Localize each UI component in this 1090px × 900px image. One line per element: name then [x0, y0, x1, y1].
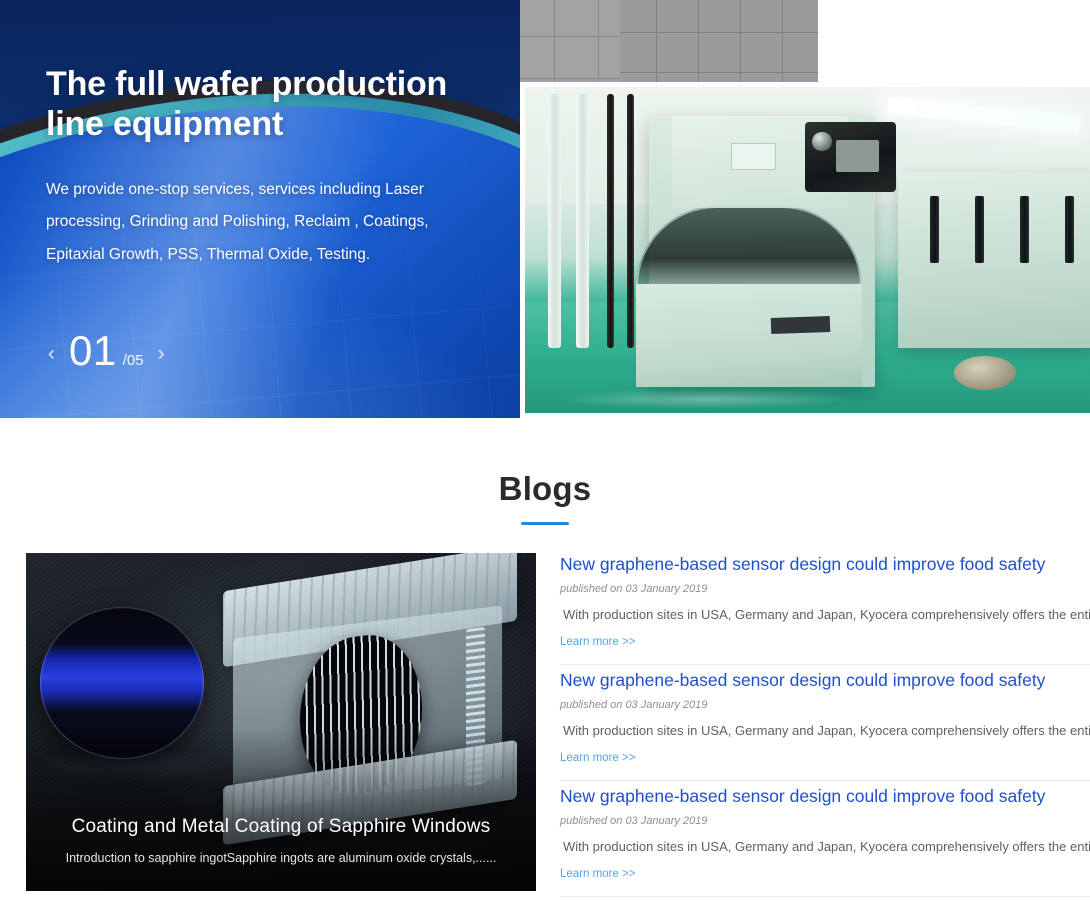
blog-item-date: published on 03 January 2019	[560, 699, 1090, 711]
polishing-machine	[649, 116, 875, 387]
wall-pipe	[576, 94, 589, 348]
blog-item-excerpt: With production sites in USA, Germany an…	[560, 722, 1090, 740]
blog-item-title[interactable]: New graphene-based sensor design could i…	[560, 785, 1090, 808]
machine-nameplate	[771, 316, 830, 334]
blog-item-excerpt: With production sites in USA, Germany an…	[560, 838, 1090, 856]
carousel-current-slide: 01	[69, 330, 117, 372]
machine-base-cabinet	[636, 284, 862, 387]
machine-post	[1065, 196, 1074, 263]
machine-post	[930, 196, 939, 263]
hero-equipment-photo	[520, 82, 1090, 418]
featured-card-description: Introduction to sapphire ingotSapphire i…	[50, 851, 512, 865]
blogs-section-title: Blogs	[0, 470, 1090, 508]
blogs-section: Blogs Coating and Metal Coat	[0, 418, 1090, 897]
blog-list-item[interactable]: New graphene-based sensor design could i…	[560, 553, 1090, 665]
wall-conduit	[627, 94, 634, 348]
hero-top-right-whitespace	[818, 0, 1090, 83]
hero-title: The full wafer production line equipment	[46, 64, 486, 144]
carousel-pager: ‹ 01 /05 ›	[44, 330, 169, 372]
blog-item-title[interactable]: New graphene-based sensor design could i…	[560, 669, 1090, 692]
blog-item-excerpt: With production sites in USA, Germany an…	[560, 606, 1090, 624]
featured-blog-card[interactable]: Coating and Metal Coating of Sapphire Wi…	[26, 553, 536, 891]
blog-item-date: published on 03 January 2019	[560, 815, 1090, 827]
machine-control-panel	[805, 122, 895, 192]
control-dial	[812, 132, 832, 152]
carousel-next-icon[interactable]: ›	[154, 341, 169, 366]
featured-card-title: Coating and Metal Coating of Sapphire Wi…	[50, 816, 512, 838]
carousel-total-slides: /05	[123, 352, 144, 369]
blogs-content: Coating and Metal Coating of Sapphire Wi…	[0, 525, 1090, 897]
hero-carousel: The full wafer production line equipment…	[0, 0, 1090, 418]
carousel-prev-icon[interactable]: ‹	[44, 341, 59, 366]
blog-list-item[interactable]: New graphene-based sensor design could i…	[560, 665, 1090, 781]
wall-pipe	[548, 94, 561, 348]
hero-subtitle: We provide one-stop services, services i…	[46, 174, 486, 271]
blog-list-item[interactable]: New graphene-based sensor design could i…	[560, 781, 1090, 897]
machine-post	[1020, 196, 1029, 263]
cleanroom-tile-patch	[620, 0, 818, 83]
blog-item-title[interactable]: New graphene-based sensor design could i…	[560, 553, 1090, 576]
cleanroom-scene	[525, 87, 1090, 413]
machine-gauge-panel	[731, 143, 776, 170]
hero-copy-block: The full wafer production line equipment…	[46, 64, 486, 271]
blog-item-date: published on 03 January 2019	[560, 583, 1090, 595]
blog-item-learn-more-link[interactable]: Learn more >>	[560, 868, 635, 880]
floor-reflection	[559, 389, 853, 409]
machine-glass-dome	[636, 206, 862, 293]
wall-conduit	[607, 94, 614, 348]
control-screen	[836, 140, 879, 172]
machine-post	[975, 196, 984, 263]
secondary-machine	[898, 172, 1090, 348]
blog-item-learn-more-link[interactable]: Learn more >>	[560, 752, 635, 764]
blog-list: New graphene-based sensor design could i…	[560, 553, 1090, 897]
blogs-header: Blogs	[0, 470, 1090, 525]
blog-item-learn-more-link[interactable]: Learn more >>	[560, 636, 635, 648]
featured-card-caption: Coating and Metal Coating of Sapphire Wi…	[26, 816, 536, 865]
